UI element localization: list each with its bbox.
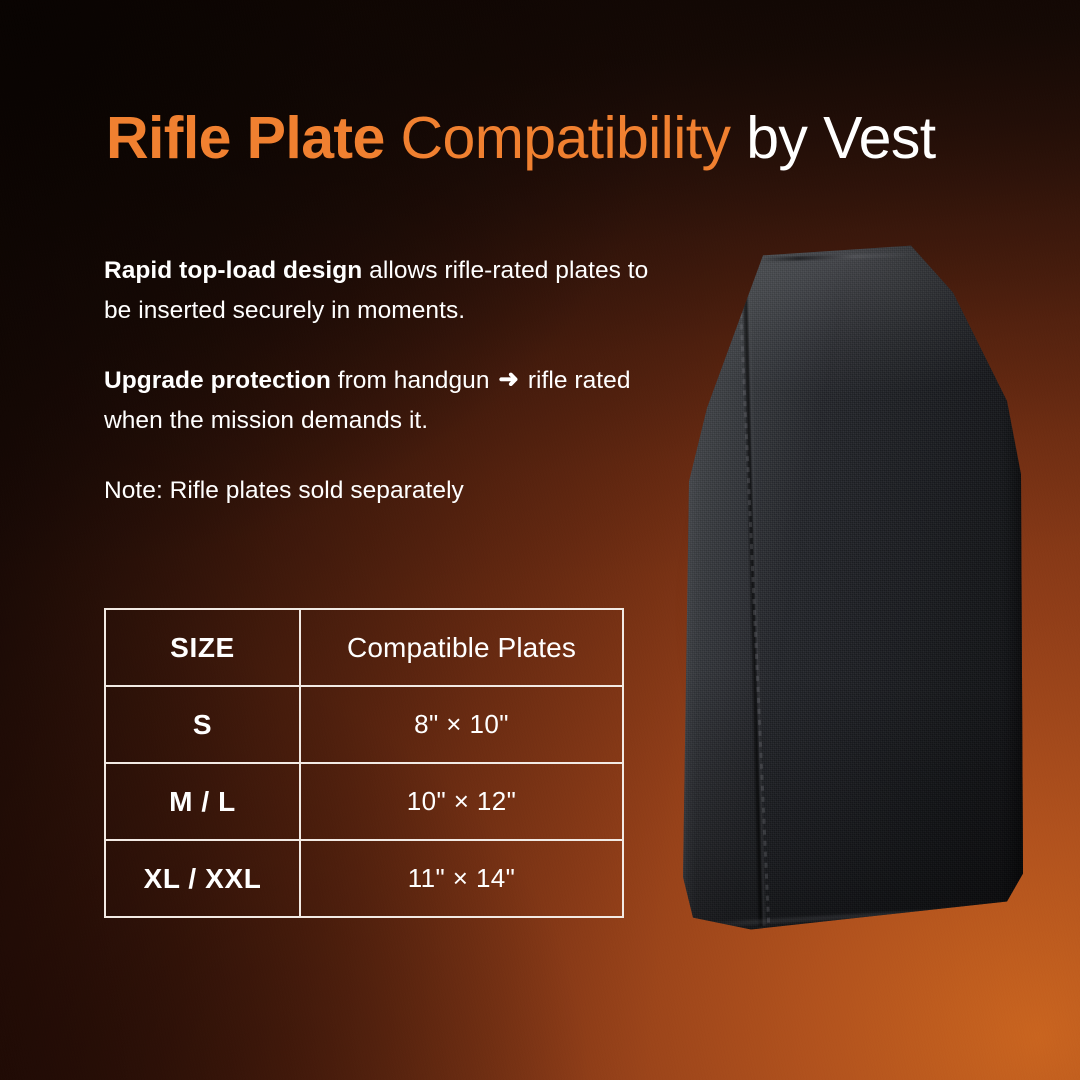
table-row: M / L 10" × 12" xyxy=(105,763,623,840)
title-part-white: by Vest xyxy=(746,105,935,171)
table-row: XL / XXL 11" × 14" xyxy=(105,840,623,917)
feature-text-2a: from handgun xyxy=(331,367,497,394)
title-part-light: Compatibility xyxy=(400,105,730,171)
cell-size: M / L xyxy=(105,763,300,840)
column-header-size: SIZE xyxy=(105,609,300,686)
cell-plates: 11" × 14" xyxy=(300,840,623,917)
cell-plates: 8" × 10" xyxy=(300,686,623,763)
infographic-poster: Rifle Plate Compatibility by Vest Rapid … xyxy=(0,0,1080,1080)
note-text: Note: Rifle plates sold separately xyxy=(104,471,649,511)
feature-lead-in-1: Rapid top-load design xyxy=(104,257,362,284)
page-title: Rifle Plate Compatibility by Vest xyxy=(106,108,1006,169)
cell-plates: 10" × 12" xyxy=(300,763,623,840)
title-part-bold: Rifle Plate xyxy=(106,105,385,171)
cell-size: S xyxy=(105,686,300,763)
right-arrow-icon: ➜ xyxy=(496,360,521,400)
column-header-plates: Compatible Plates xyxy=(300,609,623,686)
body-copy: Rapid top-load design allows rifle-rated… xyxy=(104,251,649,511)
cell-size: XL / XXL xyxy=(105,840,300,917)
plate-compatibility-table: SIZE Compatible Plates S 8" × 10" M / L … xyxy=(104,608,624,918)
rifle-plate-product-image xyxy=(655,240,1055,940)
feature-paragraph-top-load: Rapid top-load design allows rifle-rated… xyxy=(104,251,649,330)
feature-paragraph-upgrade: Upgrade protection from handgun ➜ rifle … xyxy=(104,361,649,440)
table-row: S 8" × 10" xyxy=(105,686,623,763)
feature-lead-in-2: Upgrade protection xyxy=(104,367,331,394)
table-header-row: SIZE Compatible Plates xyxy=(105,609,623,686)
